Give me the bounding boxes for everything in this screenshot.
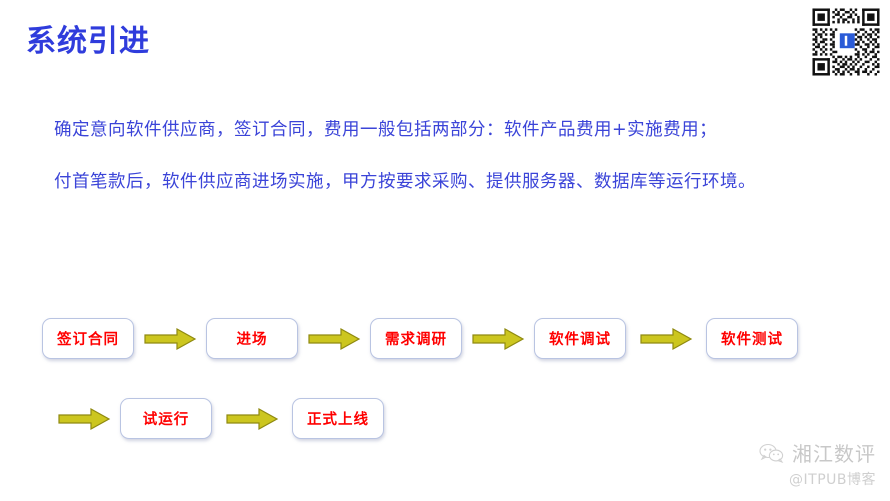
flow-step-label: 签订合同 [57,328,119,349]
flow-step-label: 试运行 [143,408,190,429]
watermark-name: 湘江数评 [792,438,876,467]
flow-step-ruanjiandiaoshi[interactable]: 软件调试 [534,318,626,359]
flowchart-row-1: 签订合同 进场 需求调研 软件调试 软件测试 [42,318,798,359]
flow-step-shiyunxing[interactable]: 试运行 [120,398,212,439]
flow-step-ruanjianceshi[interactable]: 软件测试 [706,318,798,359]
flow-step-label: 需求调研 [385,328,447,349]
process-flowchart: 签订合同 进场 需求调研 软件调试 软件测试 [0,0,890,501]
flow-step-label: 正式上线 [307,408,369,429]
flow-arrow-right-icon [225,406,279,432]
watermark: 湘江数评 @ITPUB博客 [716,438,876,489]
flow-arrow-right-icon [143,326,197,352]
wechat-icon [759,443,785,463]
flow-step-label: 软件调试 [549,328,611,349]
watermark-handle: @ITPUB博客 [716,469,876,489]
flow-step-jinchang[interactable]: 进场 [206,318,298,359]
flow-step-xuqiudiaoyan[interactable]: 需求调研 [370,318,462,359]
flow-arrow-right-icon [307,326,361,352]
qr-code-icon[interactable] [810,6,882,78]
flowchart-row-2: 试运行 正式上线 [48,398,384,439]
flow-step-zhengshishangxian[interactable]: 正式上线 [292,398,384,439]
flow-arrow-right-icon [471,326,525,352]
flow-step-label: 进场 [237,328,268,349]
flow-arrow-right-icon [639,326,693,352]
flow-step-qiandinghetong[interactable]: 签订合同 [42,318,134,359]
watermark-top-row: 湘江数评 [716,438,876,467]
flow-arrow-right-icon [57,406,111,432]
flow-step-label: 软件测试 [721,328,783,349]
